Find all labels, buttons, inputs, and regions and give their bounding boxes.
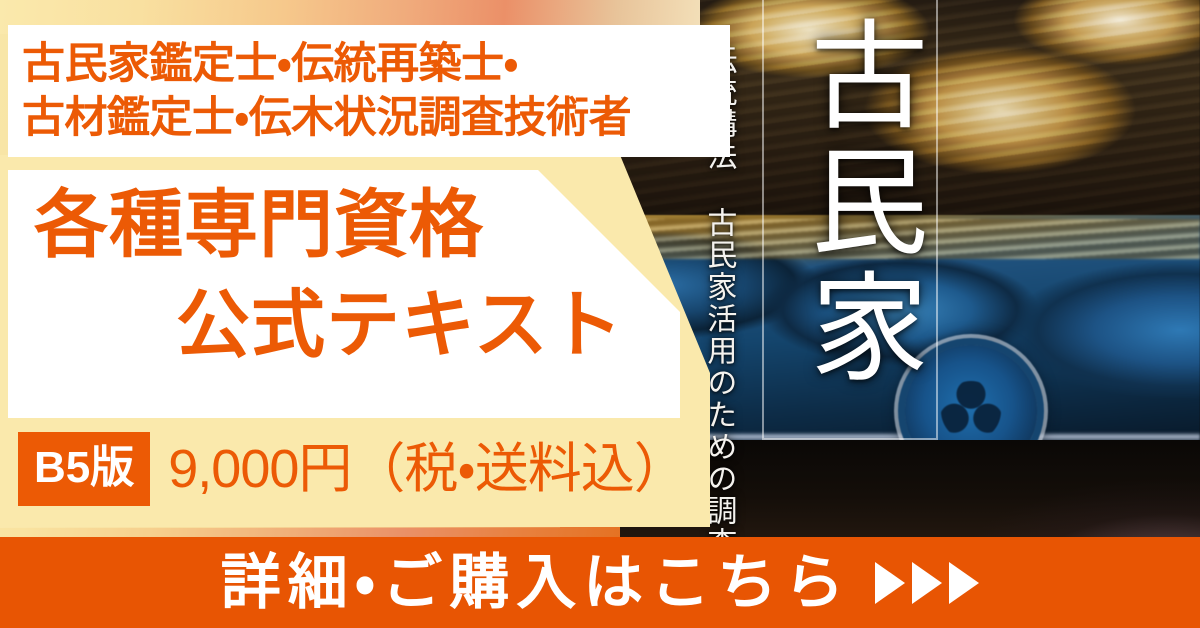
triangle-right-icon bbox=[949, 562, 979, 604]
triangle-right-icon bbox=[875, 562, 905, 604]
triangle-right-icon bbox=[912, 562, 942, 604]
price-text: 9,000円（税・送料込） bbox=[168, 442, 687, 496]
promo-banner: 古民家 伝統構法 古民家活用のための調査と再生の 古民家鑑定士・伝統再築士・ 古… bbox=[0, 0, 1200, 628]
price-row: B5版 9,000円（税・送料込） bbox=[18, 432, 687, 506]
product-title-line2: 公式テキスト bbox=[176, 286, 624, 364]
size-badge: B5版 bbox=[18, 432, 150, 506]
cta-label: 詳細・ご購入はこちら bbox=[221, 553, 851, 613]
cta-arrow-group bbox=[875, 562, 979, 604]
cta-bar[interactable]: 詳細・ご購入はこちら bbox=[0, 537, 1200, 628]
certifications-text: 古民家鑑定士・伝統再築士・ 古材鑑定士・伝木状況調査技術者 bbox=[22, 37, 631, 145]
certifications-panel: 古民家鑑定士・伝統再築士・ 古材鑑定士・伝木状況調査技術者 bbox=[8, 25, 730, 157]
book-cover-title: 古民家 bbox=[775, 14, 925, 392]
product-title-line1: 各種専門資格 bbox=[34, 186, 484, 264]
